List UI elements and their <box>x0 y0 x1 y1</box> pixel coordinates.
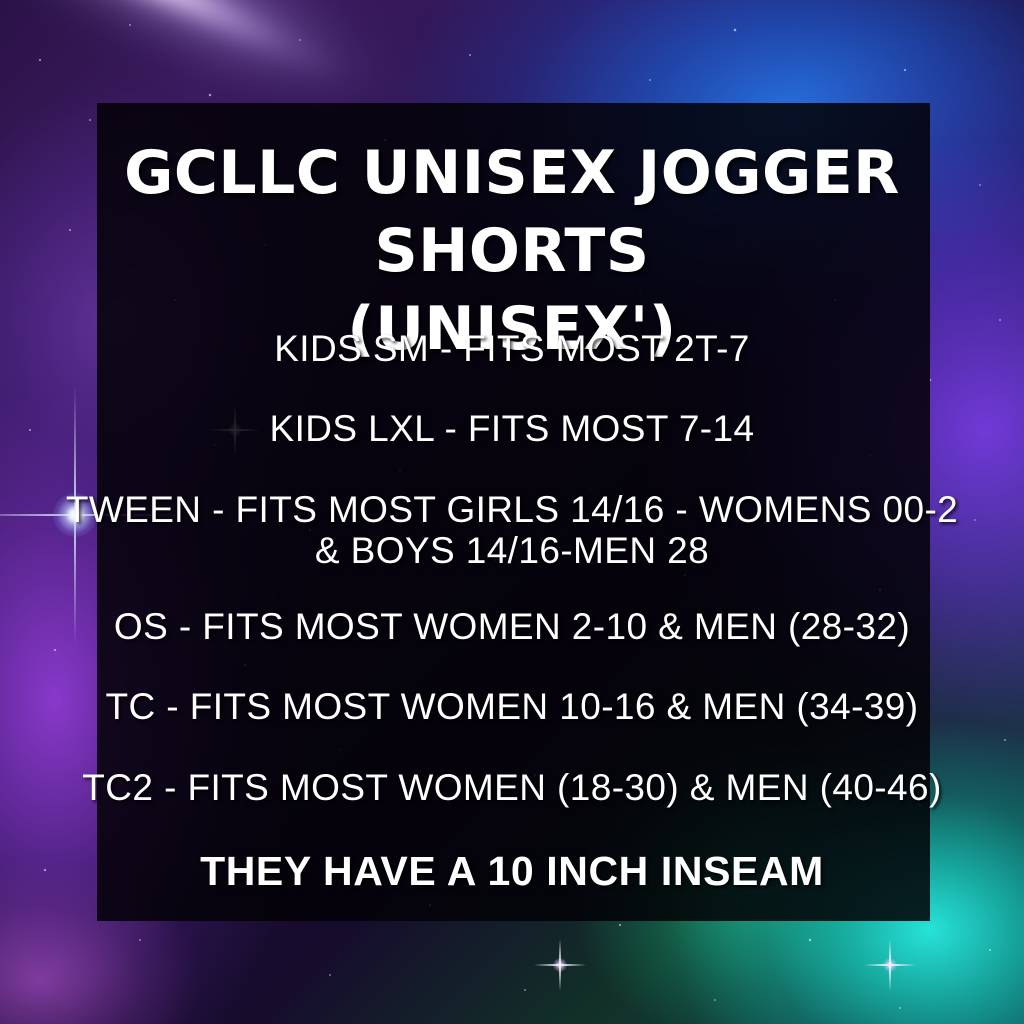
size-line-tc2: TC2 - FITS MOST WOMEN (18-30) & MEN (40-… <box>0 767 1024 808</box>
size-line-kids-sm: KIDS SM - FITS MOST 2T-7 <box>0 328 1024 369</box>
poster-canvas: GCLLC UNISEX JOGGER SHORTS (UNISEX') KID… <box>0 0 1024 1024</box>
poster-text-content: GCLLC UNISEX JOGGER SHORTS (UNISEX') KID… <box>0 0 1024 1024</box>
inseam-note: THEY HAVE A 10 INCH INSEAM <box>0 848 1024 895</box>
size-line-kids-lxl: KIDS LXL - FITS MOST 7-14 <box>0 408 1024 449</box>
size-line-tc: TC - FITS MOST WOMEN 10-16 & MEN (34-39) <box>0 686 1024 727</box>
size-line-os: OS - FITS MOST WOMEN 2-10 & MEN (28-32) <box>0 606 1024 647</box>
size-line-tween: TWEEN - FITS MOST GIRLS 14/16 - WOMENS 0… <box>0 489 1024 572</box>
size-chart-list: KIDS SM - FITS MOST 2T-7 KIDS LXL - FITS… <box>0 328 1024 808</box>
title-line-1: GCLLC UNISEX JOGGER SHORTS <box>124 138 900 286</box>
